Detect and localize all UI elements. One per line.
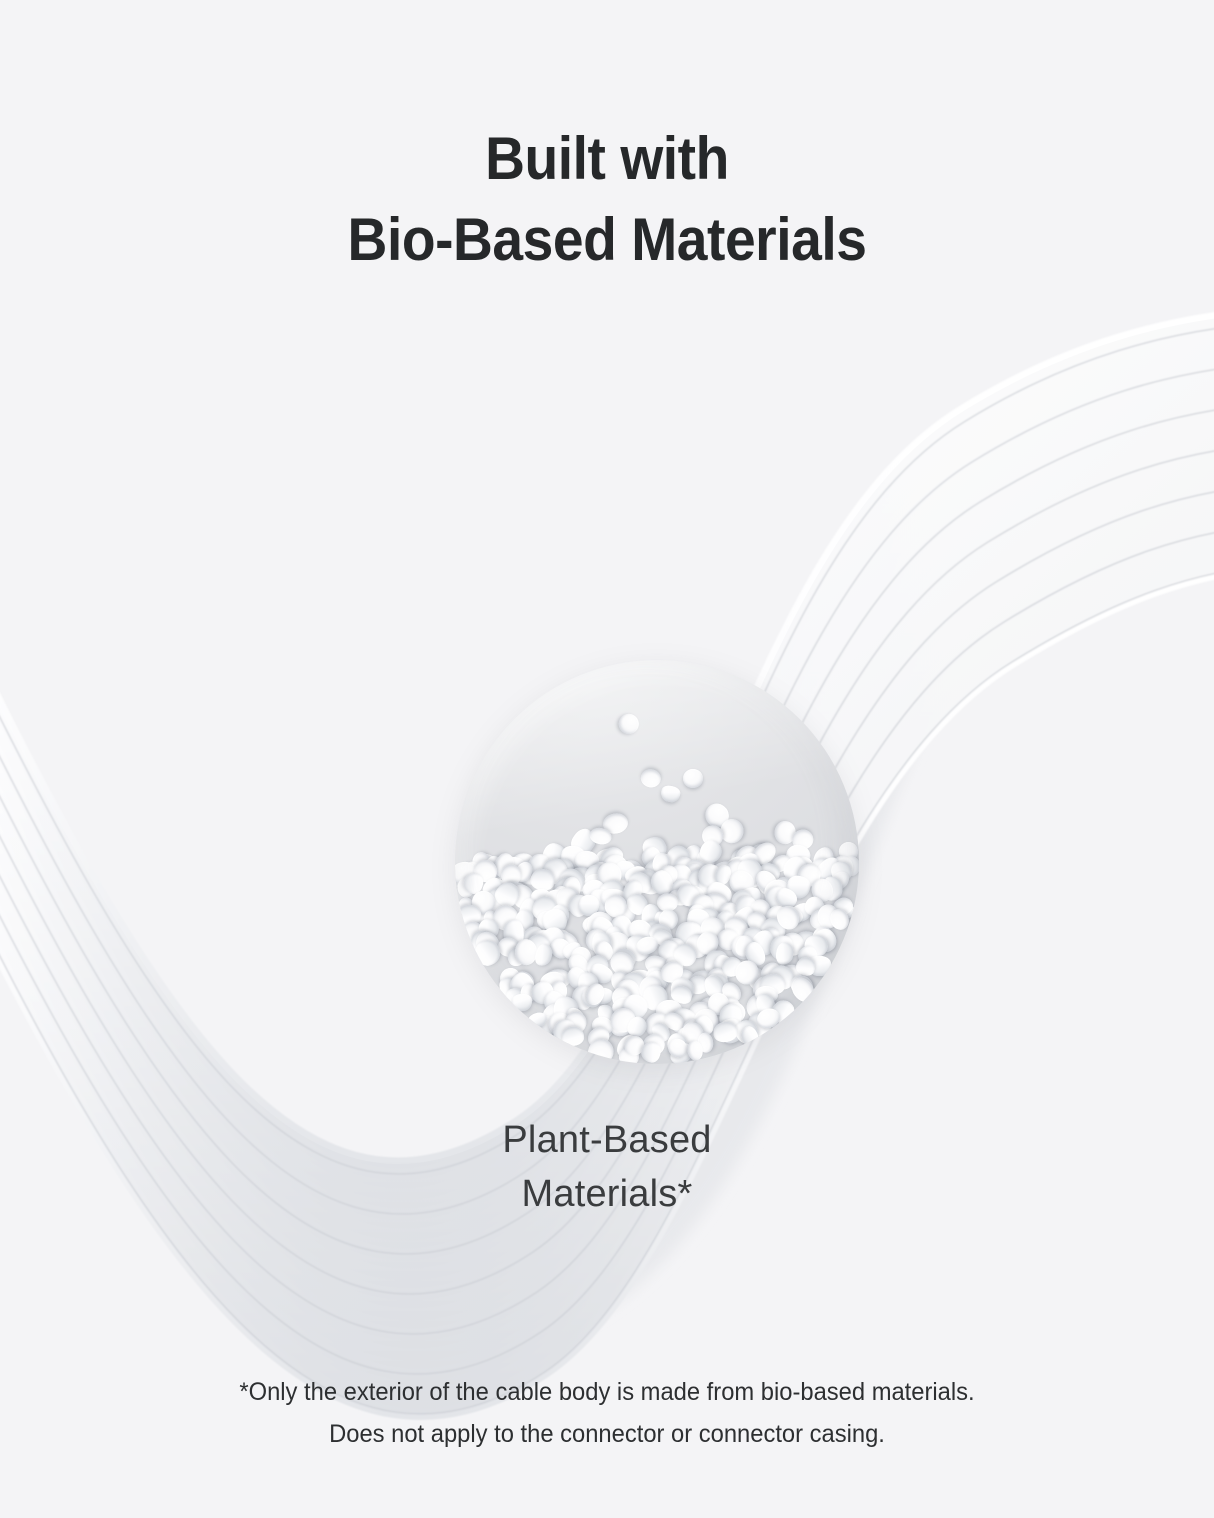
pellet-layer <box>455 660 859 1064</box>
page-title: Built with Bio-Based Materials <box>49 118 1166 280</box>
pellet-caption-line-2: Materials* <box>0 1167 1214 1221</box>
page-title-line-1: Built with <box>49 118 1166 199</box>
footnote: *Only the exterior of the cable body is … <box>30 1372 1183 1455</box>
pellet <box>512 993 534 1012</box>
bio-based-materials-promo-page: Built with Bio-Based Materials Plant-Bas… <box>0 0 1214 1518</box>
pellet <box>640 767 663 788</box>
pellet <box>660 784 682 804</box>
plant-based-pellet-closeup <box>455 660 859 1064</box>
pellet <box>719 818 745 844</box>
pellet <box>616 711 641 737</box>
footnote-line-2: Does not apply to the connector or conne… <box>30 1414 1183 1456</box>
pellet <box>514 939 537 965</box>
pellet-caption-line-1: Plant-Based <box>0 1113 1214 1167</box>
pellet <box>657 892 678 910</box>
footnote-line-1: *Only the exterior of the cable body is … <box>30 1372 1183 1414</box>
pellet-caption: Plant-Based Materials* <box>0 1113 1214 1222</box>
pellet <box>561 1026 584 1047</box>
pellet <box>682 769 704 789</box>
page-title-line-2: Bio-Based Materials <box>49 199 1166 280</box>
